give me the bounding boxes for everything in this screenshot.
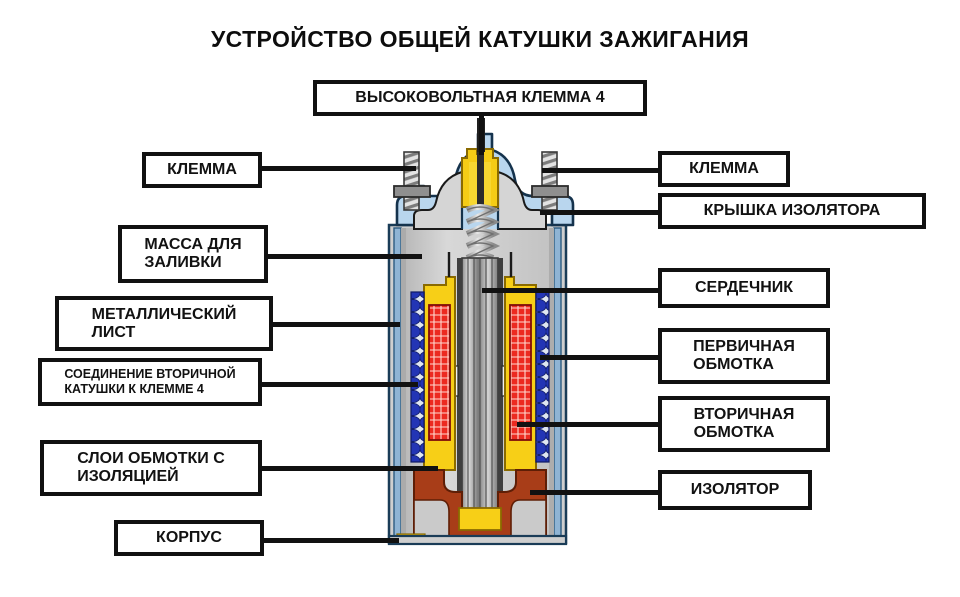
callout-secondary-connection[interactable]: СОЕДИНЕНИЕ ВТОРИЧНОЙ КАТУШКИ К КЛЕММЕ 4 [38, 358, 262, 406]
callout-terminal-right-label: КЛЕММА [689, 160, 759, 178]
callout-insulator-label: ИЗОЛЯТОР [691, 481, 780, 499]
leader-primary-winding [540, 355, 660, 360]
leader-terminal-left [260, 166, 416, 171]
callout-hv-terminal[interactable]: ВЫСОКОВОЛЬТНАЯ КЛЕММА 4 [313, 80, 647, 116]
leader-housing [263, 538, 399, 543]
callout-winding-layers-label: СЛОИ ОБМОТКИ С ИЗОЛЯЦИЕЙ [77, 450, 225, 486]
callout-potting-mass-label: МАССА ДЛЯ ЗАЛИВКИ [144, 236, 241, 272]
callout-terminal-right[interactable]: КЛЕММА [658, 151, 790, 187]
leader-terminal-right [542, 168, 660, 173]
leader-secondary-winding [517, 422, 660, 427]
callout-secondary-connection-label: СОЕДИНЕНИЕ ВТОРИЧНОЙ КАТУШКИ К КЛЕММЕ 4 [64, 367, 235, 397]
callout-housing[interactable]: КОРПУС [114, 520, 264, 556]
callout-core[interactable]: СЕРДЕЧНИК [658, 268, 830, 308]
callout-secondary-winding[interactable]: ВТОРИЧНАЯ ОБМОТКА [658, 396, 830, 452]
callout-core-label: СЕРДЕЧНИК [695, 279, 793, 297]
leader-metal-sheet [272, 322, 400, 327]
callout-insulator-cap[interactable]: КРЫШКА ИЗОЛЯТОРА [658, 193, 926, 229]
callout-insulator-cap-label: КРЫШКА ИЗОЛЯТОРА [704, 202, 881, 220]
callout-winding-layers[interactable]: СЛОИ ОБМОТКИ С ИЗОЛЯЦИЕЙ [40, 440, 262, 496]
callout-primary-winding-label: ПЕРВИЧНАЯ ОБМОТКА [693, 338, 795, 374]
callout-terminal-left-label: КЛЕММА [167, 161, 237, 179]
ignition-coil-diagram: УСТРОЙСТВО ОБЩЕЙ КАТУШКИ ЗАЖИГАНИЯ [0, 0, 960, 597]
leader-winding-layers [260, 466, 438, 471]
leader-insulator-cap [540, 210, 660, 215]
callout-hv-terminal-label: ВЫСОКОВОЛЬТНАЯ КЛЕММА 4 [355, 89, 604, 107]
leader-secondary-connection [260, 382, 418, 387]
callout-insulator[interactable]: ИЗОЛЯТОР [658, 470, 812, 510]
callout-potting-mass[interactable]: МАССА ДЛЯ ЗАЛИВКИ [118, 225, 268, 283]
leader-insulator [530, 490, 660, 495]
leader-core [482, 288, 660, 293]
callout-housing-label: КОРПУС [156, 529, 222, 547]
callout-terminal-left[interactable]: КЛЕММА [142, 152, 262, 188]
leader-hv-terminal [479, 115, 484, 155]
callout-primary-winding[interactable]: ПЕРВИЧНАЯ ОБМОТКА [658, 328, 830, 384]
callout-secondary-winding-label: ВТОРИЧНАЯ ОБМОТКА [694, 406, 795, 442]
leader-potting-mass [266, 254, 422, 259]
callout-metal-sheet-label: МЕТАЛЛИЧЕСКИЙ ЛИСТ [92, 306, 237, 342]
callout-metal-sheet[interactable]: МЕТАЛЛИЧЕСКИЙ ЛИСТ [55, 296, 273, 351]
